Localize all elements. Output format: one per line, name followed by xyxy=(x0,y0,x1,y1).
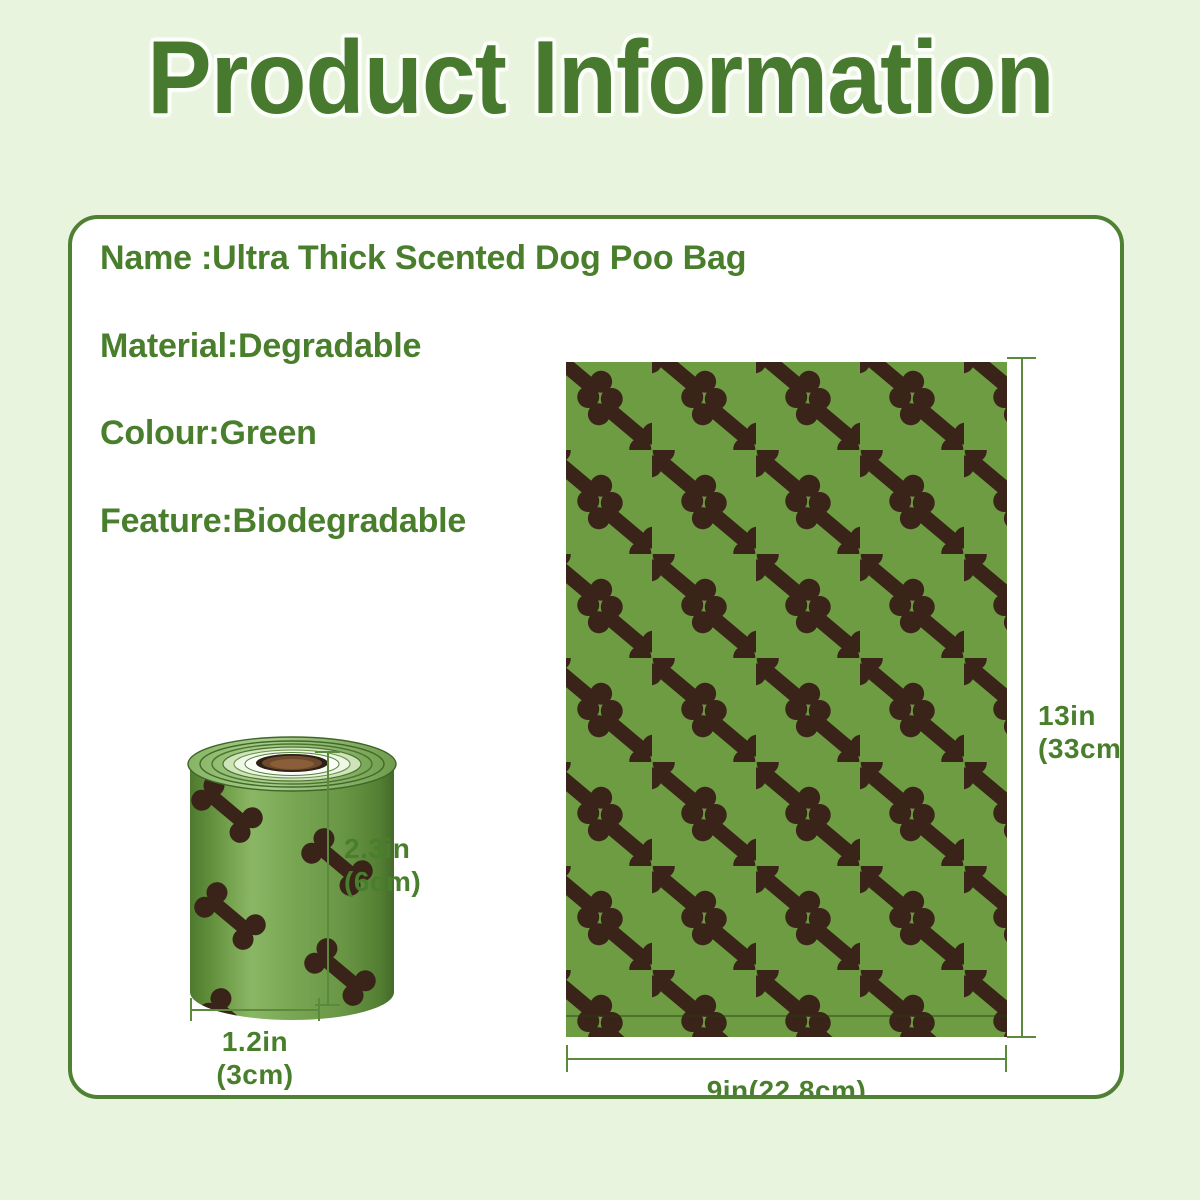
roll-height-dimension-line xyxy=(327,752,329,1005)
title-bar: Product Information xyxy=(0,14,1200,142)
roll-width-tick-left xyxy=(190,998,192,1021)
roll-width-dimension-line xyxy=(190,1009,320,1011)
spec-material: Material:Degradable xyxy=(100,329,580,365)
bag-height-label-cm: (33cm) xyxy=(1038,732,1124,765)
roll-width-label-inches: 1.2in xyxy=(180,1025,330,1058)
bag-height-tick-bottom xyxy=(1007,1036,1036,1038)
roll-top-face xyxy=(188,737,396,791)
bag-illustration xyxy=(566,362,1007,1037)
spec-colour: Colour:Green xyxy=(100,416,580,452)
bag-height-label-inches: 13in xyxy=(1038,699,1124,732)
bag-width-tick-right xyxy=(1005,1045,1007,1072)
bag-height-label: 13in (33cm) xyxy=(1038,699,1124,765)
spec-name: Name :Ultra Thick Scented Dog Poo Bag xyxy=(100,241,580,277)
product-information-card: Name :Ultra Thick Scented Dog Poo Bag Ma… xyxy=(68,215,1124,1099)
bone-pattern-bag xyxy=(566,362,1007,1037)
spec-feature: Feature:Biodegradable xyxy=(100,504,580,540)
page-title: Product Information xyxy=(147,26,1054,130)
roll-width-tick-right xyxy=(318,998,320,1021)
bag-width-dimension-line xyxy=(566,1058,1007,1060)
roll-width-label-cm: (3cm) xyxy=(180,1058,330,1091)
bag-width-label: 9in(22.8cm) xyxy=(566,1074,1007,1099)
bag-body xyxy=(566,362,1007,1037)
roll-width-label: 1.2in (3cm) xyxy=(180,1025,330,1091)
roll-height-label: 2.3in (6cm) xyxy=(344,832,421,898)
roll-height-tick-top xyxy=(315,751,340,753)
bag-bottom-seam xyxy=(566,1015,1007,1017)
bag-height-dimension-line xyxy=(1021,358,1023,1037)
roll-height-label-cm: (6cm) xyxy=(344,865,421,898)
spec-list: Name :Ultra Thick Scented Dog Poo Bag Ma… xyxy=(100,241,580,540)
roll-height-label-inches: 2.3in xyxy=(344,832,421,865)
bag-height-tick-top xyxy=(1007,357,1036,359)
bag-width-tick-left xyxy=(566,1045,568,1072)
